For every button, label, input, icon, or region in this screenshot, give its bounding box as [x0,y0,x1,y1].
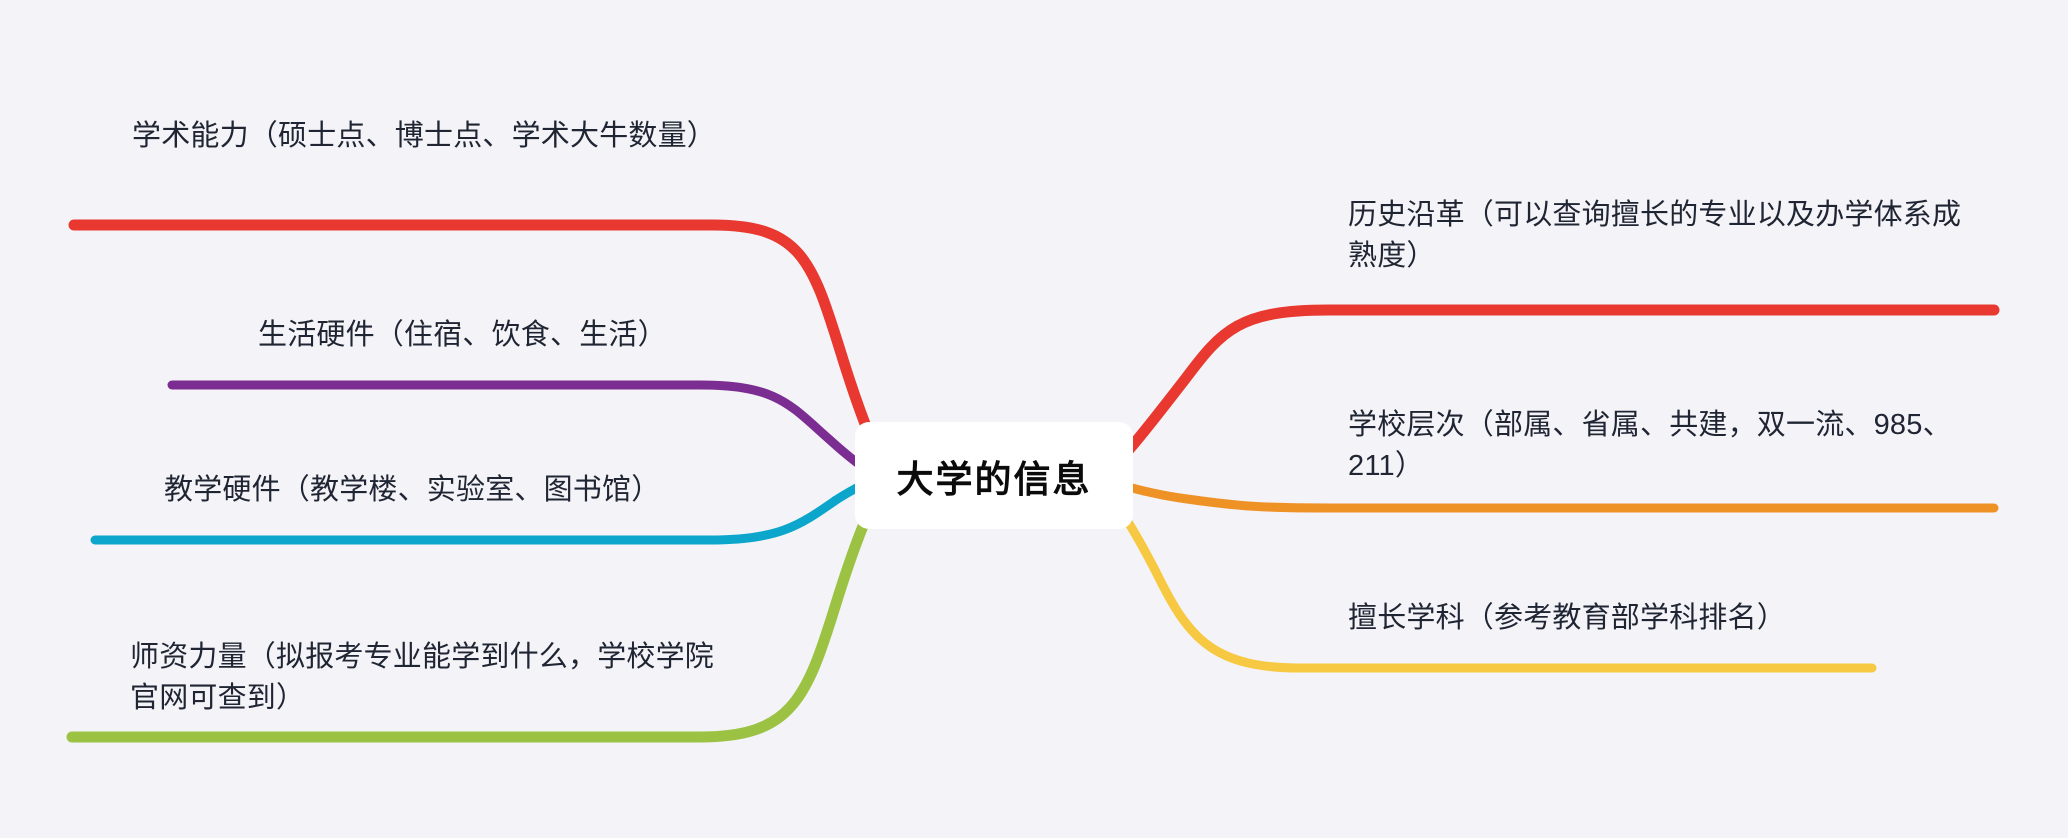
branch-label-faculty-strength[interactable]: 师资力量（拟报考专业能学到什么，学校学院官网可查到） [130,637,740,719]
branch-label-life-hardware[interactable]: 生活硬件（住宿、饮食、生活） [258,315,728,356]
branch-label-teaching-hardware[interactable]: 教学硬件（教学楼、实验室、图书馆） [164,470,724,511]
central-topic-label: 大学的信息 [897,449,1092,503]
central-topic-node[interactable]: 大学的信息 [855,422,1133,529]
branch-label-strong-subjects[interactable]: 擅长学科（参考教育部学科排名） [1348,598,1968,639]
mindmap-canvas: 学术能力（硕士点、博士点、学术大牛数量） 生活硬件（住宿、饮食、生活） 教学硬件… [0,0,2068,838]
branch-label-school-tier[interactable]: 学校层次（部属、省属、共建，双一流、985、211） [1348,405,1968,487]
branch-label-history-evolution[interactable]: 历史沿革（可以查询擅长的专业以及办学体系成熟度） [1348,195,1968,277]
branch-label-academic-ability[interactable]: 学术能力（硕士点、博士点、学术大牛数量） [132,116,752,157]
branch-line-life-hardware [172,385,878,477]
